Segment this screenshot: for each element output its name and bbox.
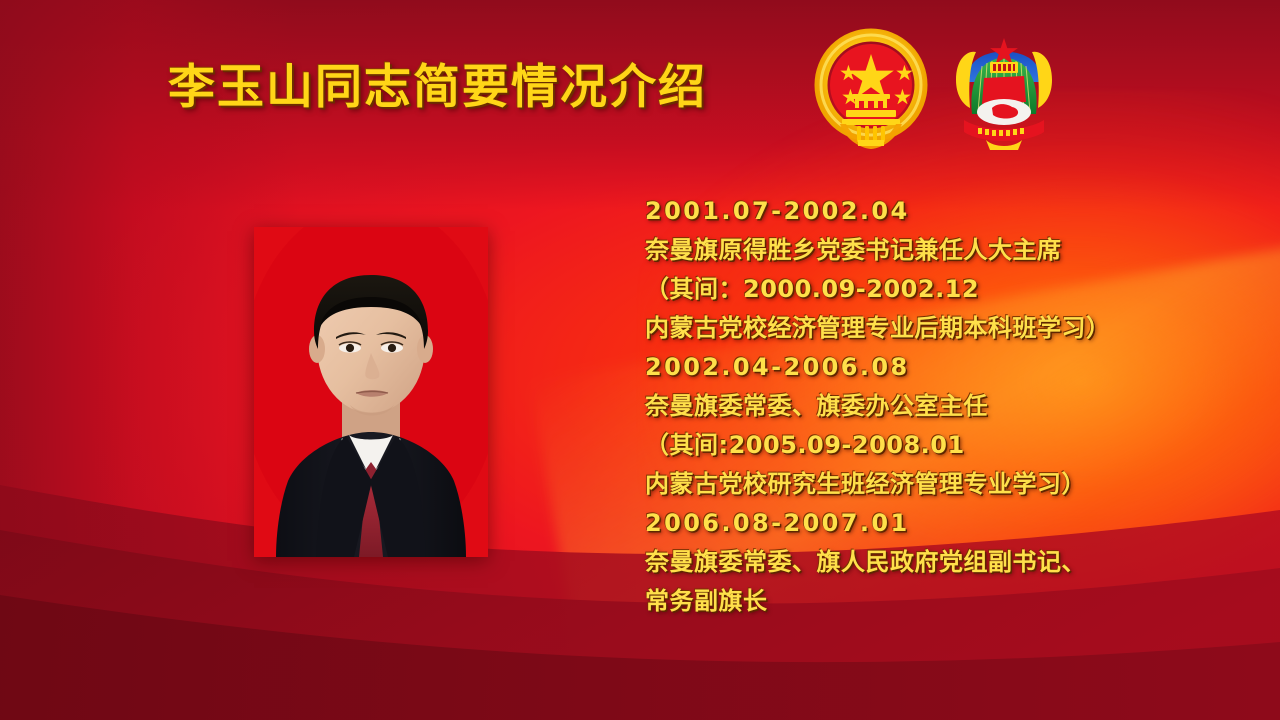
bio-line: （其间:2005.09-2008.01 xyxy=(645,426,1245,465)
bio-line: 奈曼旗委常委、旗委办公室主任 xyxy=(645,387,1245,426)
bio-line: 2002.04-2006.08 xyxy=(645,348,1245,387)
bio-line: 内蒙古党校经济管理专业后期本科班学习） xyxy=(645,309,1245,348)
emblem-group xyxy=(812,22,1082,158)
presentation-slide: 李玉山同志简要情况介绍 xyxy=(0,0,1280,720)
bio-line: 奈曼旗委常委、旗人民政府党组副书记、 xyxy=(645,543,1245,582)
biography-text-block: 2001.07-2002.04 奈曼旗原得胜乡党委书记兼任人大主席 （其间：20… xyxy=(645,192,1245,621)
portrait-photo xyxy=(254,227,488,557)
page-title: 李玉山同志简要情况介绍 xyxy=(168,62,707,115)
bio-line: 常务副旗长 xyxy=(645,582,1245,621)
bio-line: 2001.07-2002.04 xyxy=(645,192,1245,231)
cppcc-emblem-icon xyxy=(948,28,1060,152)
bio-line: （其间：2000.09-2002.12 xyxy=(645,270,1245,309)
national-emblem-icon xyxy=(812,28,930,152)
bio-line: 内蒙古党校研究生班经济管理专业学习） xyxy=(645,465,1245,504)
bio-line: 奈曼旗原得胜乡党委书记兼任人大主席 xyxy=(645,231,1245,270)
bio-line: 2006.08-2007.01 xyxy=(645,504,1245,543)
